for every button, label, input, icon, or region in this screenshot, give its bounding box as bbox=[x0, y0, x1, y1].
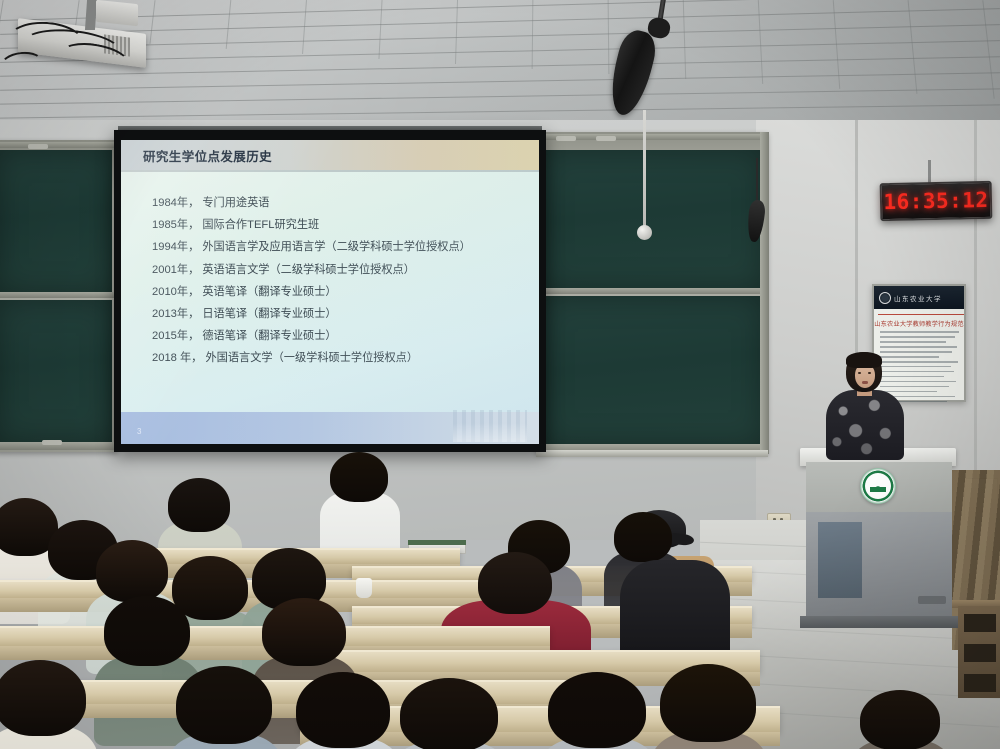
shelf-slot bbox=[964, 614, 996, 632]
speaker-eye bbox=[858, 372, 861, 374]
audience-head bbox=[614, 512, 672, 562]
slide-line: 2013年， 日语笔译（翻译专业硕士） bbox=[152, 309, 522, 320]
blackboard-panel bbox=[0, 150, 112, 294]
blackboard-rail bbox=[0, 142, 116, 148]
hanging-mic-cable bbox=[756, 158, 758, 206]
blackboard-edge bbox=[760, 132, 769, 454]
poster-title: 山东农业大学教师教学行为规范 bbox=[874, 319, 964, 328]
audience-head bbox=[0, 660, 86, 736]
chalk-tray bbox=[536, 450, 768, 457]
slide-line: 2010年， 英语笔译（翻译专业硕士） bbox=[152, 287, 522, 298]
wall-seam bbox=[974, 120, 977, 520]
slide-line: 2018 年， 外国语言文学（一级学科硕士学位授权点） bbox=[152, 353, 522, 364]
projector-housing bbox=[96, 0, 138, 26]
poster-header: 山东农业大学 bbox=[874, 286, 964, 309]
lectern-side-panel bbox=[818, 522, 862, 598]
slide-title: 研究生学位点发展历史 bbox=[143, 146, 272, 165]
blackboard-rail bbox=[0, 292, 116, 298]
presentation-slide: 研究生学位点发展历史 1984年， 专门用途英语1985年， 国际合作TEFL研… bbox=[121, 140, 539, 444]
audience-head bbox=[330, 452, 388, 502]
blackboard-panel bbox=[542, 296, 764, 446]
slide-line: 2001年， 英语语言文学（二级学科硕士学位授权点） bbox=[152, 265, 522, 276]
board-clip bbox=[28, 144, 48, 149]
book-spine bbox=[408, 540, 466, 545]
shelf-slot bbox=[964, 644, 996, 662]
poster-text-line bbox=[880, 371, 954, 373]
poster-text-line bbox=[880, 366, 951, 368]
poster-text-line bbox=[880, 336, 955, 338]
slide-body: 1984年， 专门用途英语1985年， 国际合作TEFL研究生班1994年， 外… bbox=[152, 198, 522, 376]
hanging-microphone bbox=[637, 225, 652, 240]
audience-head bbox=[660, 664, 756, 742]
audience-head bbox=[400, 678, 498, 749]
audience-head bbox=[262, 598, 346, 666]
speaker-mouth bbox=[862, 381, 868, 384]
board-clip bbox=[596, 136, 616, 141]
slide-watermark bbox=[453, 410, 527, 442]
slide-page-number: 3 bbox=[137, 427, 141, 436]
audience-head bbox=[172, 556, 248, 620]
poster-text-line bbox=[880, 386, 949, 388]
clock-mount bbox=[928, 160, 931, 184]
audience-head bbox=[96, 540, 168, 602]
audience-head bbox=[548, 672, 646, 748]
poster-text-line bbox=[880, 331, 959, 333]
poster-text-line bbox=[880, 341, 946, 343]
lectern-base bbox=[800, 616, 958, 628]
slide-line: 2015年， 德语笔译（翻译专业硕士） bbox=[152, 331, 522, 342]
poster-text-line bbox=[880, 376, 944, 378]
speaker-torso bbox=[826, 390, 904, 460]
emblem-mountain-mark bbox=[870, 481, 886, 492]
speaker-eye bbox=[868, 372, 871, 374]
lecture-hall-photo: 研究生学位点发展历史 1984年， 专门用途英语1985年， 国际合作TEFL研… bbox=[0, 0, 1000, 749]
emblem-inner bbox=[865, 473, 891, 499]
poster-divider bbox=[878, 314, 964, 315]
university-emblem-icon bbox=[860, 468, 896, 504]
audience-head bbox=[104, 596, 190, 666]
audience-head bbox=[176, 666, 272, 744]
audience-head bbox=[860, 690, 940, 749]
poster-text-line bbox=[880, 356, 939, 358]
hanging-mic-cable bbox=[643, 110, 646, 228]
audience-head bbox=[168, 478, 230, 532]
poster-text-line bbox=[880, 361, 958, 363]
lectern-hinge bbox=[918, 596, 946, 604]
slide-line: 1984年， 专门用途英语 bbox=[152, 198, 522, 209]
blackboard-rail bbox=[536, 288, 768, 294]
poster-text-line bbox=[880, 351, 952, 353]
blackboard-panel bbox=[542, 150, 764, 290]
slide-line: 1985年， 国际合作TEFL研究生班 bbox=[152, 220, 522, 231]
audience-head bbox=[296, 672, 390, 748]
clock-time: 16:35:12 bbox=[883, 188, 989, 214]
led-clock: 16:35:12 bbox=[880, 181, 993, 221]
speaker-hair bbox=[846, 352, 882, 368]
poster-text-line bbox=[880, 381, 956, 383]
poster-text-line bbox=[880, 346, 957, 348]
cup bbox=[356, 578, 372, 598]
shelf-slot bbox=[964, 674, 996, 692]
slide-header-rule bbox=[121, 170, 539, 172]
wall-poster: 山东农业大学 山东农业大学教师教学行为规范 bbox=[872, 284, 966, 402]
audience-head bbox=[478, 552, 552, 614]
poster-university-name: 山东农业大学 bbox=[894, 293, 942, 303]
slide-line: 1994年， 外国语言学及应用语言学（二级学科硕士学位授权点） bbox=[152, 242, 522, 253]
blackboard-panel bbox=[0, 300, 112, 442]
board-clip bbox=[42, 440, 62, 445]
board-clip bbox=[556, 136, 576, 141]
university-logo-icon bbox=[879, 292, 891, 304]
